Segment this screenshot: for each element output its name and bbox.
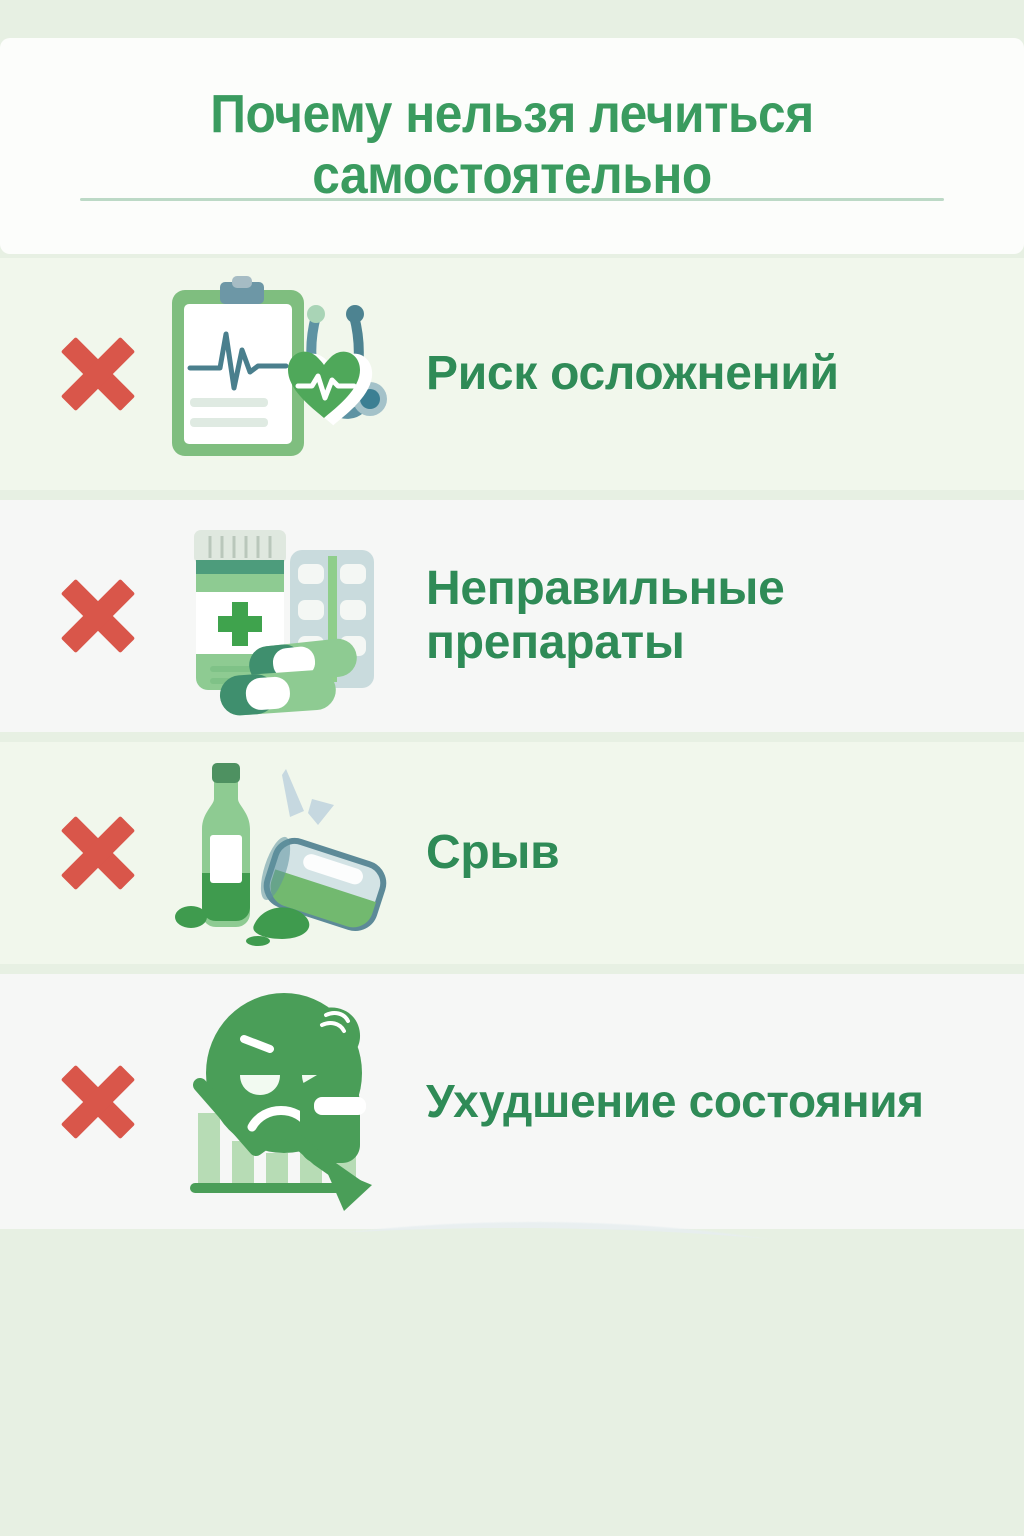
bottle-spilled-glass-icon [156,753,396,953]
reason-label-1: Риск осложнений [396,347,1024,401]
pill-bottle-blister-capsules-icon [156,516,396,716]
footer-wave-green [0,1228,1024,1536]
red-x-mark-icon [50,1054,146,1150]
reason-label-4: Ухудшение состояния [396,1076,1024,1128]
infographic-poster: Почему нельзя лечиться самостоятельно [0,0,1024,1536]
clipboard-ecg-heart-stethoscope-icon [156,274,396,474]
page-title: Почему нельзя лечиться самостоятельно [41,38,983,206]
reason-row-2[interactable]: Неправильные препараты [0,500,1024,732]
title-divider [80,198,944,201]
reason-row-3[interactable]: Срыв [0,742,1024,964]
red-x-mark-icon [50,805,146,901]
reason-row-1[interactable]: Риск осложнений [0,258,1024,490]
header-card: Почему нельзя лечиться самостоятельно [0,38,1024,254]
sad-face-declining-chart-icon [156,1002,396,1202]
reason-label-2: Неправильные препараты [396,562,1024,670]
reason-row-4[interactable]: Ухудшение состояния [0,974,1024,1229]
red-x-mark-icon [50,568,146,664]
reason-label-3: Срыв [396,826,1024,880]
red-x-mark-icon [50,326,146,422]
